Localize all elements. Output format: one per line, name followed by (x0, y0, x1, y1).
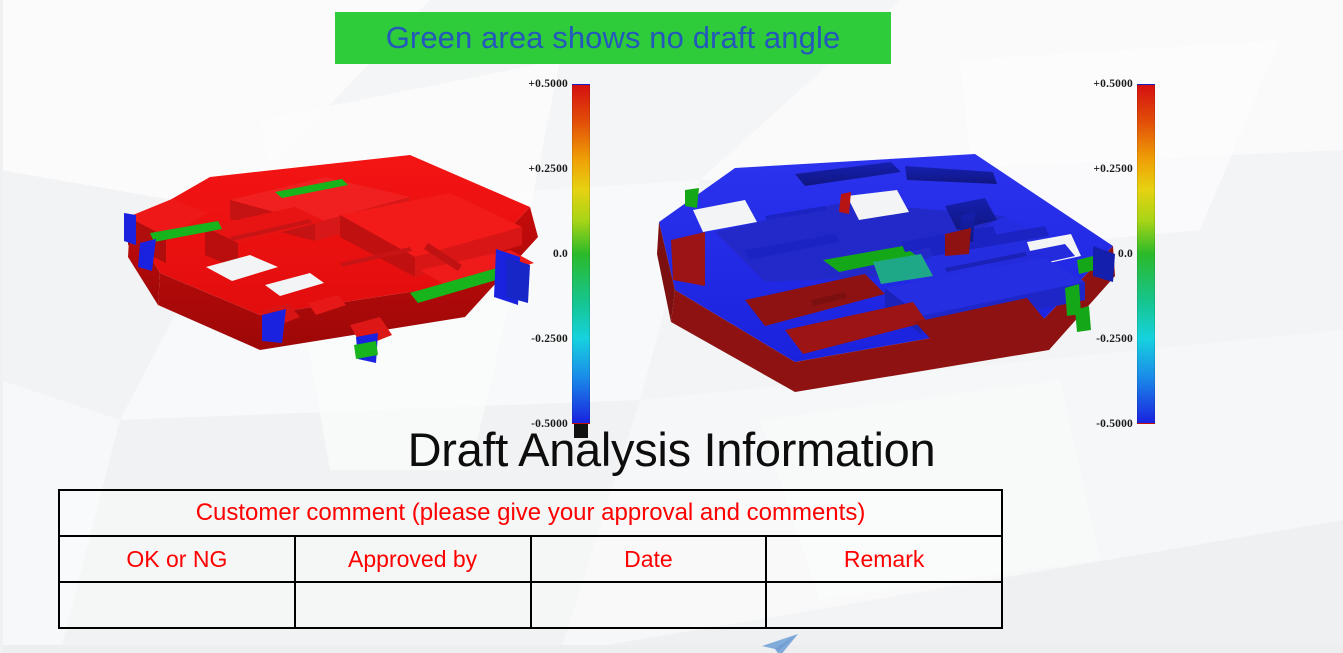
customer-comment-header: Customer comment (please give your appro… (59, 490, 1002, 536)
table-row-header: Customer comment (please give your appro… (59, 490, 1002, 536)
paper-plane-icon (760, 632, 800, 653)
colorbar-right-tick-2: 0.0 (1118, 248, 1133, 260)
colorbar-left-tick-2: 0.0 (553, 248, 568, 260)
customer-approval-table: Customer comment (please give your appro… (58, 489, 1003, 629)
page-title: Draft Analysis Information (0, 422, 1343, 477)
banner-label: Green area shows no draft angle (386, 20, 841, 56)
draft-analysis-model-cavity-side[interactable] (645, 150, 1125, 395)
column-header-remark: Remark (766, 536, 1002, 582)
cavity-side-render (645, 150, 1125, 395)
colorbar-left: +0.5000 +0.2500 0.0 -0.2500 -0.5000 (520, 80, 600, 428)
cell-date[interactable] (531, 582, 767, 628)
colorbar-left-tick-0: +0.5000 (528, 78, 568, 90)
colorbar-right: +0.5000 +0.2500 0.0 -0.2500 -0.5000 (1075, 80, 1165, 428)
colorbar-right-tick-0: +0.5000 (1093, 78, 1133, 90)
colorbar-right-gradient (1137, 84, 1155, 424)
slide-canvas: Green area shows no draft angle (0, 0, 1343, 653)
core-side-render (110, 145, 550, 395)
cell-ok-or-ng[interactable] (59, 582, 295, 628)
table-row[interactable] (59, 582, 1002, 628)
colorbar-right-tick-3: -0.2500 (1096, 333, 1133, 345)
colorbar-left-tick-1: +0.2500 (528, 163, 568, 175)
cell-remark[interactable] (766, 582, 1002, 628)
column-header-date: Date (531, 536, 767, 582)
column-header-approved-by: Approved by (295, 536, 531, 582)
colorbar-left-gradient (572, 84, 590, 424)
table-row-columns: OK or NG Approved by Date Remark (59, 536, 1002, 582)
colorbar-left-tick-3: -0.2500 (531, 333, 568, 345)
draft-analysis-model-core-side[interactable] (110, 145, 550, 395)
cell-approved-by[interactable] (295, 582, 531, 628)
column-header-ok-or-ng: OK or NG (59, 536, 295, 582)
colorbar-right-tick-1: +0.2500 (1093, 163, 1133, 175)
green-area-banner: Green area shows no draft angle (335, 12, 891, 64)
